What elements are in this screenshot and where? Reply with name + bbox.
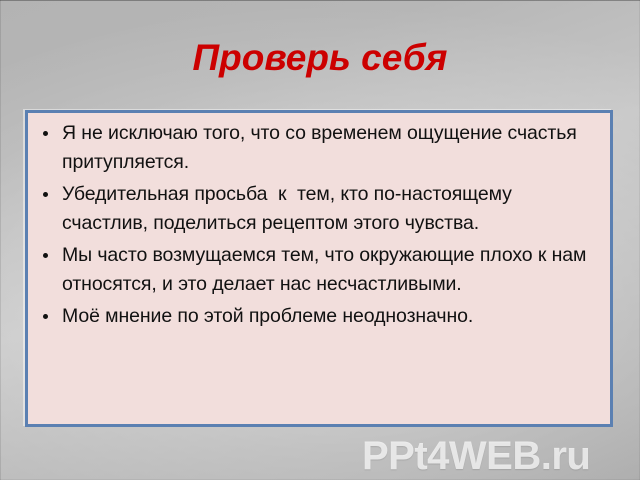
list-item: Убедительная просьба к тем, кто по-насто… [36, 180, 602, 238]
list-item-label: Моё мнение по этой проблеме неоднозначно… [62, 302, 602, 331]
bullet-list: Я не исключаю того, что со временем ощущ… [28, 113, 610, 331]
list-item-label: Мы часто возмущаемся тем, что окружающие… [62, 241, 602, 299]
watermark-logo: PPt4WEB.ru [362, 434, 590, 478]
list-item: Мы часто возмущаемся тем, что окружающие… [36, 241, 602, 299]
content-text-box: Я не исключаю того, что со временем ощущ… [25, 110, 613, 427]
bullet-dot-icon [43, 192, 48, 197]
list-item: Моё мнение по этой проблеме неоднозначно… [36, 302, 602, 331]
presentation-slide: Проверь себя Я не исключаю того, что со … [0, 0, 640, 480]
bullet-dot-icon [43, 131, 48, 136]
list-item-label: Убедительная просьба к тем, кто по-насто… [62, 180, 602, 238]
bullet-dot-icon [43, 314, 48, 319]
bullet-dot-icon [43, 253, 48, 258]
list-item: Я не исключаю того, что со временем ощущ… [36, 119, 602, 177]
page-title: Проверь себя [0, 36, 640, 80]
list-item-label: Я не исключаю того, что со временем ощущ… [62, 119, 602, 177]
